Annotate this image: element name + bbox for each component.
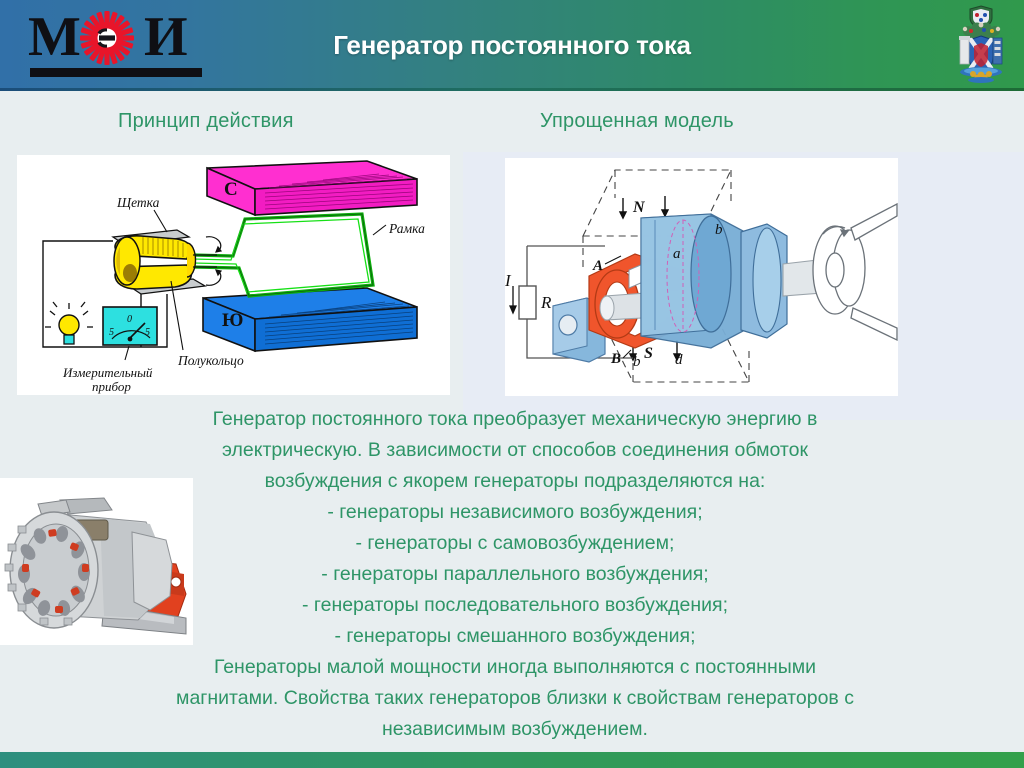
header-divider [0, 88, 1024, 91]
figure-simplified-model: N S I R [505, 158, 898, 396]
label-north: N [632, 199, 646, 216]
body-line: электрическую. В зависимости от способов… [60, 435, 970, 466]
label-terminal-a: A [592, 258, 603, 274]
meter-tick-left: 5 [109, 327, 114, 338]
body-line: магнитами. Свойства таких генераторов бл… [60, 683, 970, 714]
coat-of-arms-icon [954, 4, 1008, 86]
body-line: - генераторы с самовозбуждением; [60, 528, 970, 559]
meter-tick-center: 0 [127, 314, 132, 325]
label-conductor-b: b [715, 222, 723, 238]
magnet-south-label: Ю [222, 310, 243, 331]
section-heading-principle: Принцип действия [118, 110, 294, 133]
logo-underline [30, 68, 202, 77]
label-resistance: R [540, 293, 552, 312]
body-line: - генераторы независимого возбуждения; [60, 497, 970, 528]
body-text-block: Генератор постоянного тока преобразует м… [60, 404, 970, 745]
section-heading-model: Упрощенная модель [540, 110, 734, 133]
label-conductor-d: d [675, 352, 683, 368]
measuring-instrument: 5 0 5 [103, 307, 157, 345]
footer-bar [0, 752, 1024, 768]
body-line: - генераторы параллельного возбуждения; [60, 559, 970, 590]
figure-principle-of-operation: С Ю [17, 155, 450, 395]
body-line: Генератор постоянного тока преобразует м… [60, 404, 970, 435]
label-half-ring: Полукольцо [177, 353, 244, 368]
resistor-symbol [519, 286, 536, 319]
body-line: независимым возбуждением. [60, 714, 970, 745]
label-terminal-b: B [610, 351, 621, 367]
principle-diagram-svg: С Ю [17, 155, 450, 395]
model-diagram-svg: N S I R [505, 158, 898, 396]
body-line: - генераторы смешанного возбуждения; [60, 621, 970, 652]
slide-header: М И [0, 0, 1024, 88]
magnet-north-block: С [207, 161, 417, 215]
slide-root: М И [0, 0, 1024, 768]
label-conductor-b2: b [633, 354, 641, 370]
page-title: Генератор постоянного тока [0, 30, 1024, 61]
body-line: Генераторы малой мощности иногда выполня… [60, 652, 970, 683]
label-conductor-a: a [673, 246, 681, 262]
label-measuring-device: Измерительный [62, 365, 153, 380]
body-line: возбуждения с якорем генераторы подразде… [60, 466, 970, 497]
label-frame: Рамка [388, 221, 425, 236]
label-measuring-device-2: прибор [92, 379, 131, 394]
body-line: - генераторы последовательного возбужден… [60, 590, 970, 621]
label-brush: Щетка [116, 195, 160, 210]
meter-tick-right: 5 [145, 327, 150, 338]
magnet-north-label: С [224, 179, 238, 200]
label-south: S [644, 345, 653, 362]
